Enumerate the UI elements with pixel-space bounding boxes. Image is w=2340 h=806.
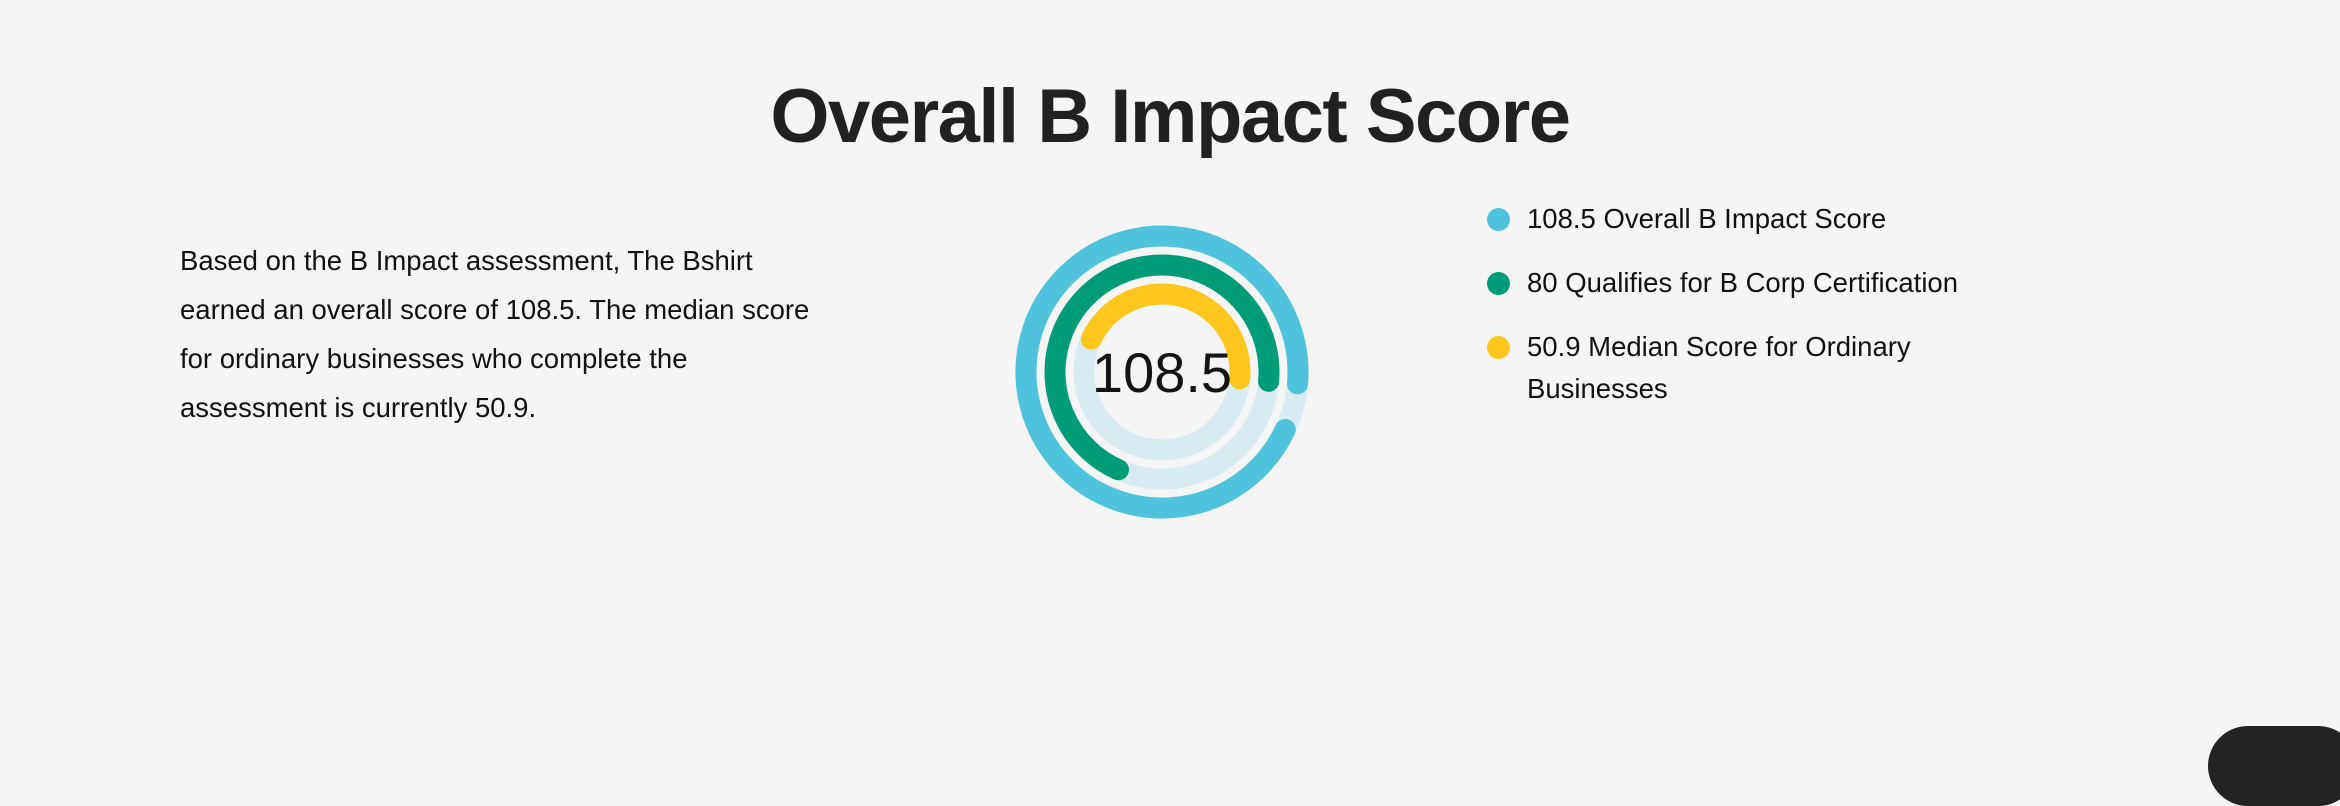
legend-item: 50.9 Median Score for Ordinary Businesse… — [1487, 326, 2187, 410]
help-widget-button[interactable] — [2208, 726, 2340, 806]
page-title: Overall B Impact Score — [0, 75, 2340, 159]
content-row: Based on the B Impact assessment, The Bs… — [0, 190, 2340, 730]
legend-color-swatch-icon — [1487, 336, 1510, 359]
legend-item-label: 50.9 Median Score for Ordinary Businesse… — [1527, 326, 1967, 410]
legend-color-swatch-icon — [1487, 208, 1510, 231]
gauge-svg — [1010, 220, 1314, 524]
chart-legend: 108.5 Overall B Impact Score 80 Qualifie… — [1487, 198, 2187, 432]
legend-item-label: 80 Qualifies for B Corp Certification — [1527, 262, 1958, 304]
legend-item: 80 Qualifies for B Corp Certification — [1487, 262, 2187, 304]
gauge-arc-overall-score — [1026, 236, 1298, 508]
gauge-arc-median-ordinary — [1091, 294, 1240, 379]
legend-color-swatch-icon — [1487, 272, 1510, 295]
legend-item-label: 108.5 Overall B Impact Score — [1527, 198, 1886, 240]
page-root: Overall B Impact Score Based on the B Im… — [0, 0, 2340, 760]
radial-gauge-chart: 108.5 — [1010, 220, 1314, 524]
description-text: Based on the B Impact assessment, The Bs… — [180, 236, 820, 432]
legend-item: 108.5 Overall B Impact Score — [1487, 198, 2187, 240]
